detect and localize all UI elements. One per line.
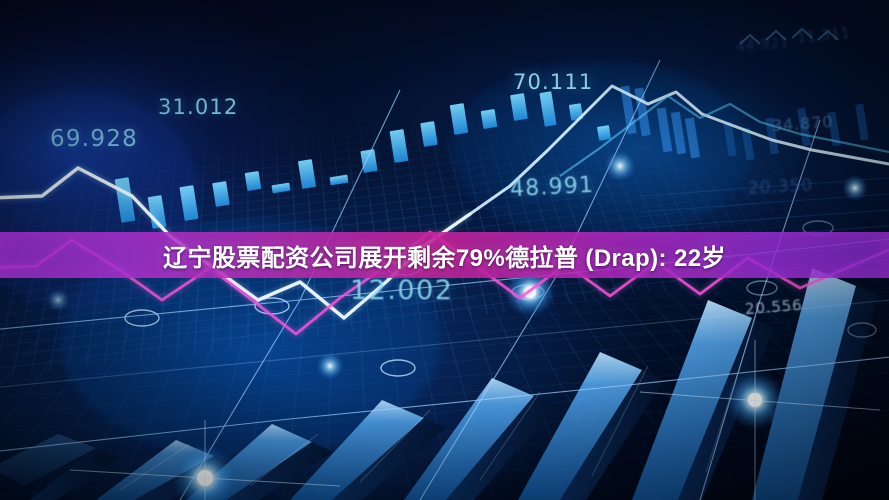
banner-title-text: 辽宁股票配资公司展开剩余79%德拉普 (Drap): 22岁	[163, 238, 726, 273]
stock-chart-banner-image: 31.012 69.928 70.111 48.991 12.002 31.01…	[0, 0, 889, 500]
title-banner: 辽宁股票配资公司展开剩余79%德拉普 (Drap): 22岁	[0, 232, 889, 278]
